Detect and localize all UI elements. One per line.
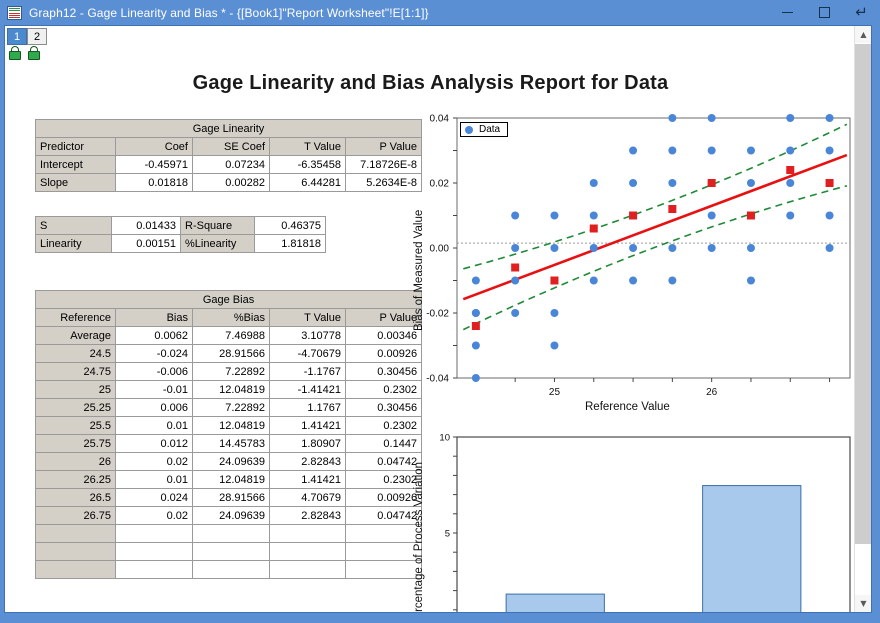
scroll-up-icon[interactable]: ▲ — [855, 26, 872, 43]
cell-pct-bias: 24.09639 — [193, 507, 270, 525]
row-label: 26.25 — [36, 471, 116, 489]
cell-t-value: 6.44281 — [270, 174, 346, 192]
summary-statistics-table: S 0.01433 R-Square 0.46375 Linearity 0.0… — [35, 216, 326, 253]
table-row: 26.250.0112.048191.414210.2302 — [36, 471, 422, 489]
row-label: Average — [36, 327, 116, 345]
report-page: Gage Linearity and Bias Analysis Report … — [5, 26, 856, 612]
table-row — [36, 561, 422, 579]
worksheet-tabs: 1 2 — [7, 28, 47, 45]
column-header-coef: Coef — [116, 138, 193, 156]
table-row: 25.750.01214.457831.809070.1447 — [36, 435, 422, 453]
svg-text:10: 10 — [439, 433, 450, 444]
x-axis-label: Reference Value — [585, 401, 670, 413]
cell-bias: 0.006 — [116, 399, 193, 417]
cell-bias: -0.006 — [116, 363, 193, 381]
scroll-down-icon[interactable]: ▼ — [855, 595, 872, 612]
svg-text:25: 25 — [549, 387, 561, 398]
column-header-t-value: T Value — [270, 309, 346, 327]
title-bar: Graph12 - Gage Linearity and Bias * - {[… — [0, 0, 880, 25]
cell-t-value: 2.82843 — [270, 453, 346, 471]
legend-label-data: Data — [479, 124, 500, 135]
column-header-reference: Reference — [36, 309, 116, 327]
cell-bias — [116, 543, 193, 561]
table-caption-row: Gage Linearity — [36, 120, 422, 138]
table-header-row: Predictor Coef SE Coef T Value P Value — [36, 138, 422, 156]
row-label — [36, 525, 116, 543]
cell-pct-bias — [193, 525, 270, 543]
cell-t-value: -1.41421 — [270, 381, 346, 399]
row-label: Intercept — [36, 156, 116, 174]
lock-icon-1[interactable] — [8, 46, 22, 60]
row-label: 26 — [36, 453, 116, 471]
lock-indicators — [8, 46, 41, 60]
table-row: Slope 0.01818 0.00282 6.44281 5.2634E-8 — [36, 174, 422, 192]
row-label: Slope — [36, 174, 116, 192]
cell-t-value — [270, 561, 346, 579]
cell-pct-bias: 12.04819 — [193, 471, 270, 489]
column-header-pct-bias: %Bias — [193, 309, 270, 327]
cell-bias — [116, 561, 193, 579]
value-s: 0.01433 — [112, 217, 181, 235]
table-caption-row: Gage Bias — [36, 291, 422, 309]
cell-bias: 0.012 — [116, 435, 193, 453]
label-r-square: R-Square — [181, 217, 255, 235]
cell-t-value: -1.1767 — [270, 363, 346, 381]
cell-pct-bias: 12.04819 — [193, 417, 270, 435]
maximize-button[interactable] — [806, 0, 843, 25]
table-caption: Gage Linearity — [36, 120, 422, 138]
row-label: 25.25 — [36, 399, 116, 417]
table-row: Linearity 0.00151 %Linearity 1.81818 — [36, 235, 326, 253]
cell-t-value: -4.70679 — [270, 345, 346, 363]
bias-vs-reference-chart: Bias of Measured Value Reference Value -… — [405, 66, 855, 416]
cell-t-value — [270, 543, 346, 561]
chart-legend: Data — [460, 122, 508, 137]
table-row: Intercept -0.45971 0.07234 -6.35458 7.18… — [36, 156, 422, 174]
gage-bias-table: Gage Bias Reference Bias %Bias T Value P… — [35, 290, 422, 579]
cell-se-coef: 0.07234 — [193, 156, 270, 174]
cell-pct-bias: 12.04819 — [193, 381, 270, 399]
svg-text:-0.04: -0.04 — [426, 374, 449, 385]
label-pct-linearity: %Linearity — [181, 235, 255, 253]
table-caption: Gage Bias — [36, 291, 422, 309]
table-row: 26.50.02428.915664.706790.00926 — [36, 489, 422, 507]
row-label: 25 — [36, 381, 116, 399]
cell-pct-bias: 24.09639 — [193, 453, 270, 471]
table-row: S 0.01433 R-Square 0.46375 — [36, 217, 326, 235]
label-s: S — [36, 217, 112, 235]
table-row: Average0.00627.469883.107780.00346 — [36, 327, 422, 345]
table-row: 24.75-0.0067.22892-1.17670.30456 — [36, 363, 422, 381]
cell-bias: 0.024 — [116, 489, 193, 507]
value-linearity: 0.00151 — [112, 235, 181, 253]
y-axis-label: Bias of Measured Value — [413, 210, 425, 331]
cell-t-value: 4.70679 — [270, 489, 346, 507]
cell-bias: 0.01 — [116, 417, 193, 435]
application-window: Graph12 - Gage Linearity and Bias * - {[… — [0, 0, 880, 623]
window-controls: ↵ — [769, 0, 880, 25]
cell-bias: 0.02 — [116, 453, 193, 471]
table-row: 25-0.0112.04819-1.414210.2302 — [36, 381, 422, 399]
lock-icon-2[interactable] — [27, 46, 41, 60]
cell-bias: 0.01 — [116, 471, 193, 489]
table-row: 24.5-0.02428.91566-4.706790.00926 — [36, 345, 422, 363]
cell-pct-bias: 7.22892 — [193, 363, 270, 381]
svg-text:0.04: 0.04 — [430, 114, 450, 125]
legend-marker-icon — [465, 126, 473, 134]
tab-1[interactable]: 1 — [7, 28, 27, 45]
cell-bias: -0.01 — [116, 381, 193, 399]
cell-t-value: 1.41421 — [270, 417, 346, 435]
table-header-row: Reference Bias %Bias T Value P Value — [36, 309, 422, 327]
value-pct-linearity: 1.81818 — [255, 235, 326, 253]
row-label: 25.5 — [36, 417, 116, 435]
cell-pct-bias: 7.46988 — [193, 327, 270, 345]
cell-t-value: -6.35458 — [270, 156, 346, 174]
cell-t-value: 1.80907 — [270, 435, 346, 453]
column-header-bias: Bias — [116, 309, 193, 327]
row-label: 26.75 — [36, 507, 116, 525]
svg-text:0.00: 0.00 — [430, 244, 450, 255]
table-row — [36, 543, 422, 561]
percentage-process-variation-chart: Percentage of Process Variation 0510Line… — [405, 421, 855, 613]
minitab-graph-icon — [7, 6, 22, 20]
table-row: 26.750.0224.096392.828430.04742 — [36, 507, 422, 525]
column-header-se-coef: SE Coef — [193, 138, 270, 156]
cell-pct-bias — [193, 561, 270, 579]
table-row: 25.250.0067.228921.17670.30456 — [36, 399, 422, 417]
cell-pct-bias: 14.45783 — [193, 435, 270, 453]
table-row: 25.50.0112.048191.414210.2302 — [36, 417, 422, 435]
tab-2[interactable]: 2 — [27, 28, 47, 45]
svg-text:-0.02: -0.02 — [426, 309, 449, 320]
cell-se-coef: 0.00282 — [193, 174, 270, 192]
cell-t-value: 1.41421 — [270, 471, 346, 489]
scrollbar-thumb[interactable] — [855, 44, 872, 544]
client-area: Gage Linearity and Bias Analysis Report … — [4, 25, 872, 613]
table-row: 260.0224.096392.828430.04742 — [36, 453, 422, 471]
minimize-button[interactable] — [769, 0, 806, 25]
column-header-predictor: Predictor — [36, 138, 116, 156]
row-label: 26.5 — [36, 489, 116, 507]
cell-t-value: 1.1767 — [270, 399, 346, 417]
cell-pct-bias: 28.91566 — [193, 489, 270, 507]
scatter-plot-svg: -0.04-0.020.000.020.042526 — [405, 66, 855, 416]
cell-t-value: 2.82843 — [270, 507, 346, 525]
svg-text:5: 5 — [445, 529, 450, 540]
value-r-square: 0.46375 — [255, 217, 326, 235]
cell-pct-bias: 7.22892 — [193, 399, 270, 417]
cell-bias: -0.024 — [116, 345, 193, 363]
cell-t-value: 3.10778 — [270, 327, 346, 345]
cell-coef: 0.01818 — [116, 174, 193, 192]
cell-pct-bias — [193, 543, 270, 561]
row-label: 24.5 — [36, 345, 116, 363]
cell-coef: -0.45971 — [116, 156, 193, 174]
row-label — [36, 561, 116, 579]
table-row — [36, 525, 422, 543]
y-axis-label: Percentage of Process Variation — [413, 462, 425, 613]
bar-chart-svg: 0510LinearityBias — [405, 421, 855, 613]
column-header-t-value: T Value — [270, 138, 346, 156]
row-label — [36, 543, 116, 561]
gage-linearity-table: Gage Linearity Predictor Coef SE Coef T … — [35, 119, 422, 192]
vertical-scrollbar[interactable]: ▲ ▼ — [854, 26, 871, 612]
window-title: Graph12 - Gage Linearity and Bias * - {[… — [29, 6, 429, 20]
restore-down-button[interactable]: ↵ — [843, 0, 880, 25]
label-linearity: Linearity — [36, 235, 112, 253]
cell-bias: 0.02 — [116, 507, 193, 525]
svg-text:26: 26 — [706, 387, 718, 398]
cell-bias — [116, 525, 193, 543]
cell-pct-bias: 28.91566 — [193, 345, 270, 363]
cell-t-value — [270, 525, 346, 543]
row-label: 24.75 — [36, 363, 116, 381]
cell-bias: 0.0062 — [116, 327, 193, 345]
row-label: 25.75 — [36, 435, 116, 453]
svg-text:0.02: 0.02 — [430, 179, 450, 190]
